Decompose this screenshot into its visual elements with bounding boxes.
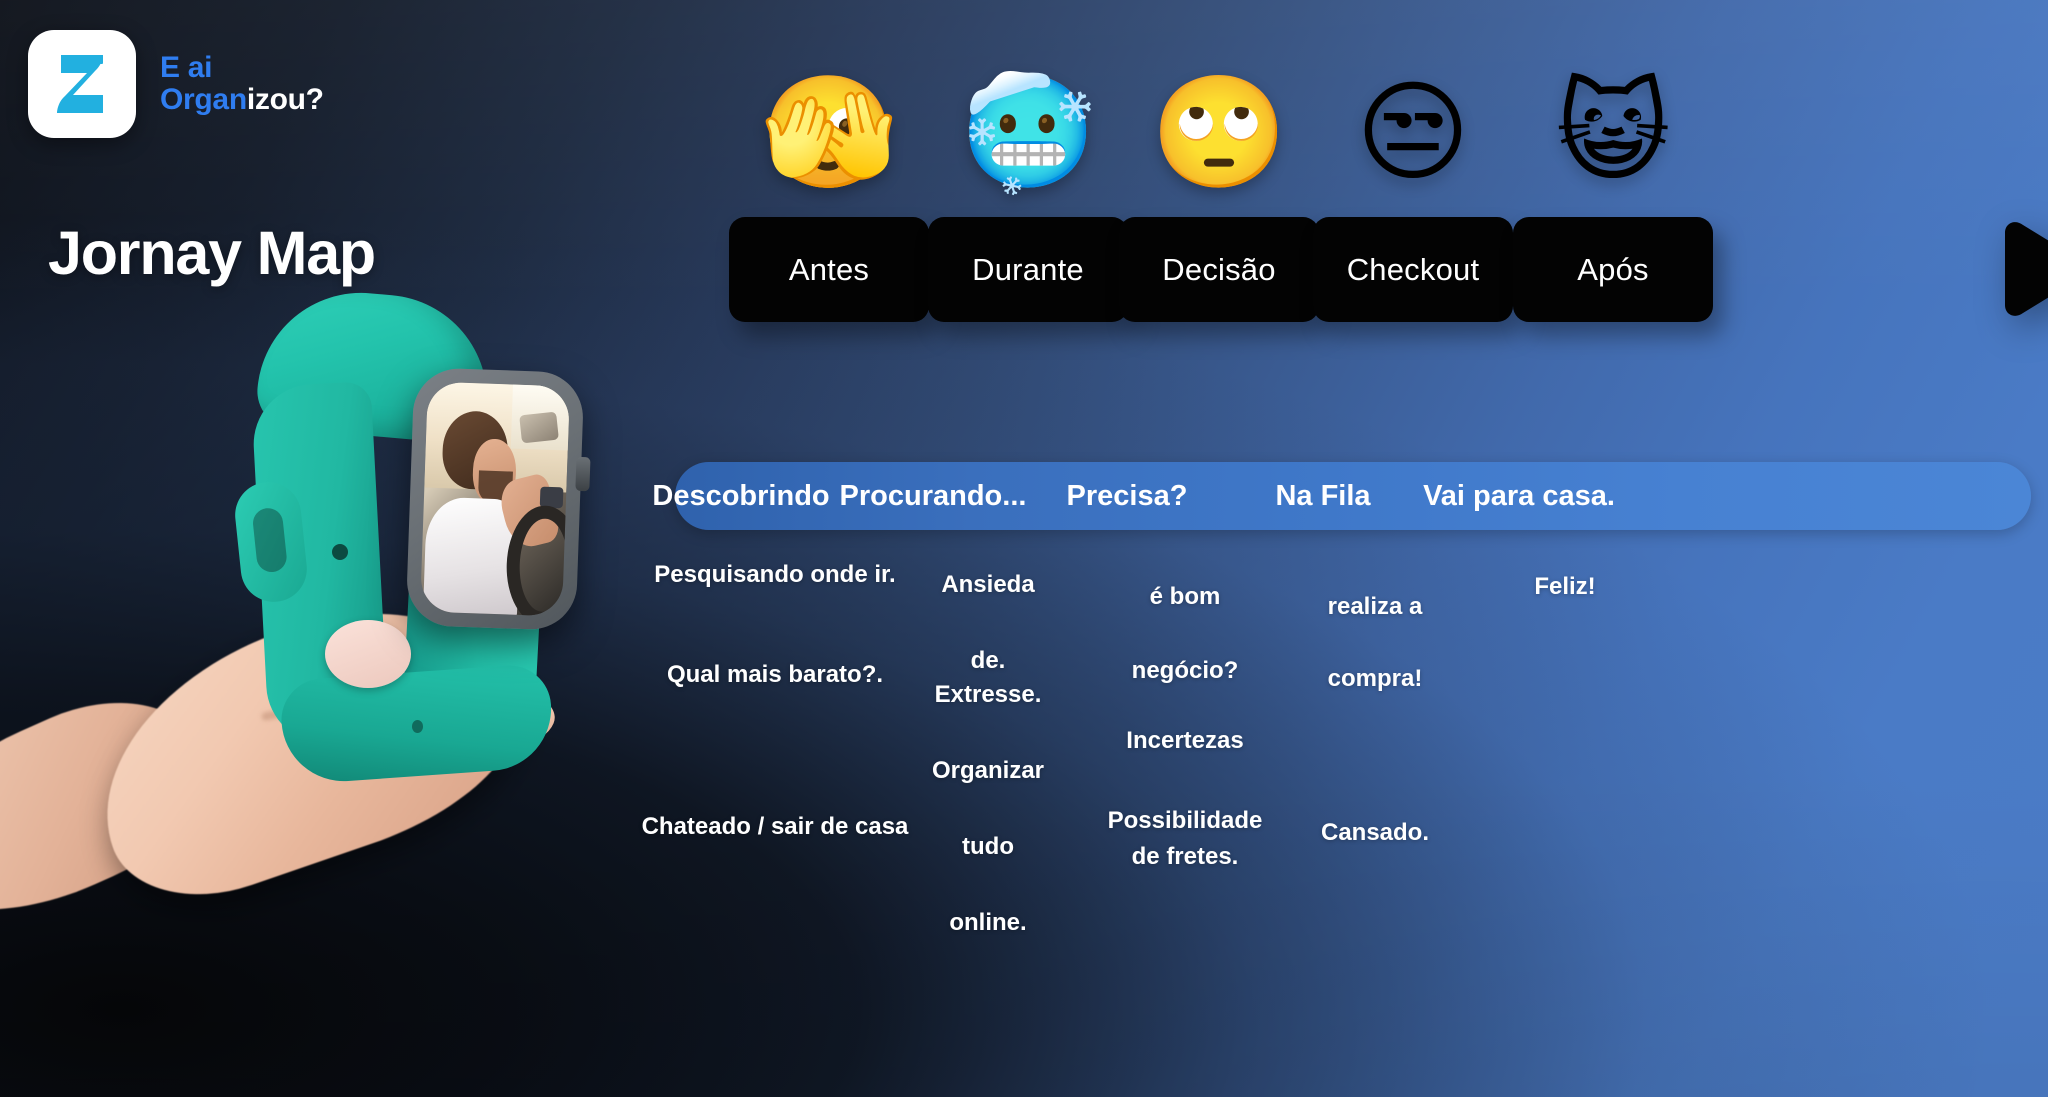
content-line: compra!	[1240, 664, 1510, 694]
content-line: Incertezas	[1050, 726, 1320, 756]
phase-banner: Descobrindo Procurando... Precisa? Na Fi…	[675, 462, 2031, 530]
content-line: online.	[853, 908, 1123, 938]
stage-row: 🫣 Antes 🥶 Durante 🙄 Decisão 😒 Checkout 😺…	[705, 62, 2023, 390]
app-logo[interactable]	[28, 30, 136, 138]
stage-cell-5: 😺 Após	[1489, 62, 1737, 390]
content-line: Cansado.	[1240, 818, 1510, 848]
watch-case	[406, 367, 585, 631]
brand-tagline-rest: izou?	[247, 83, 324, 116]
screen-rear-mirror	[519, 411, 559, 442]
smartwatch-illustration	[110, 300, 610, 860]
watch-buckle	[325, 620, 411, 688]
watch-crown[interactable]	[575, 457, 590, 491]
stage-button-checkout[interactable]: Checkout	[1313, 217, 1513, 322]
chevron-right-icon	[1999, 217, 2048, 321]
content-line: Feliz!	[1430, 572, 1700, 602]
brand-tagline: E ai Organizou?	[160, 52, 324, 116]
logo-z-icon	[51, 51, 113, 117]
next-stage-arrow[interactable]	[1999, 217, 2048, 321]
grinning-cat-emoji: 😺	[1489, 62, 1737, 202]
content-line: Organizar	[853, 756, 1123, 786]
brand-header: E ai Organizou?	[28, 30, 324, 138]
watch-strap-hole	[332, 544, 348, 560]
watch-screen[interactable]	[420, 382, 570, 617]
brand-tagline-highlight: Organ	[160, 83, 247, 116]
brand-tagline-line1: E ai	[160, 52, 324, 84]
stage-button-antes[interactable]: Antes	[729, 217, 929, 322]
phase-label-vai-para-casa: Vai para casa.	[1389, 462, 1649, 530]
page-title: Jornay Map	[48, 218, 375, 288]
journey-content-grid: Pesquisando onde ir. Qual mais barato?. …	[640, 560, 2040, 1040]
stage-button-apos[interactable]: Após	[1513, 217, 1713, 322]
watch-strap-hole-lower	[412, 720, 423, 733]
brand-tagline-line2: Organizou?	[160, 84, 324, 116]
